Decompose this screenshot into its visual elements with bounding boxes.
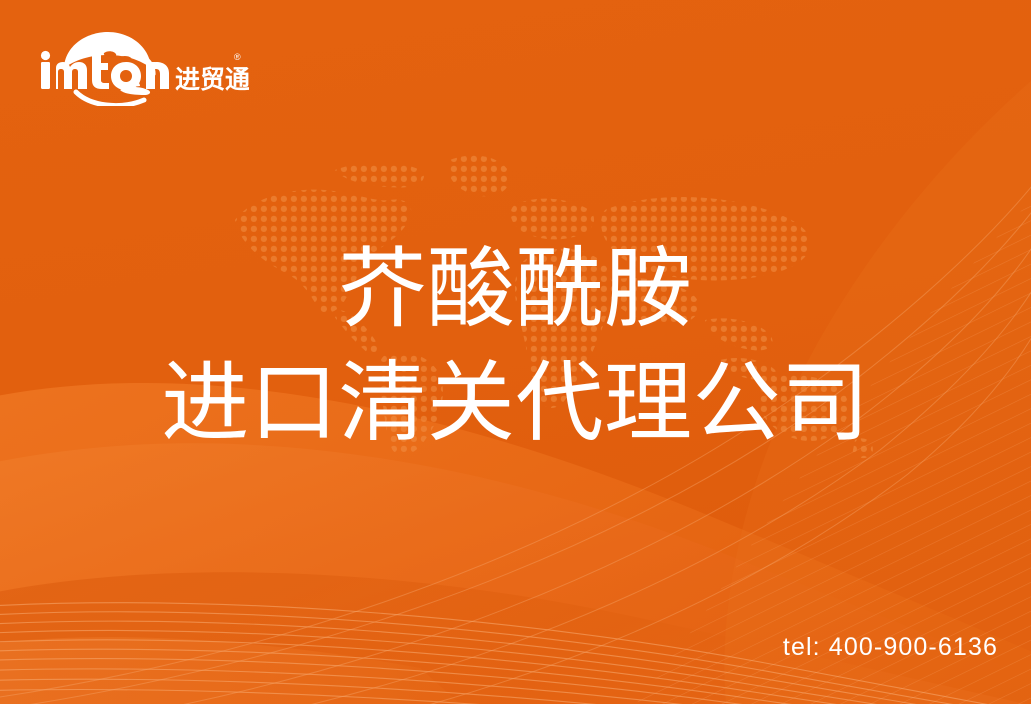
promo-banner: 进贸通 ® 芥酸酰胺 进口清关代理公司 tel: 400-900-6136 bbox=[0, 0, 1031, 704]
registered-mark-icon: ® bbox=[234, 52, 241, 62]
swoosh-dolphin-icon bbox=[76, 82, 150, 105]
logo-chinese-name: 进贸通 bbox=[175, 66, 249, 94]
headline-line-1: 芥酸酰胺 bbox=[0, 232, 1031, 346]
brand-logo[interactable]: 进贸通 ® bbox=[34, 28, 249, 106]
headline-block: 芥酸酰胺 进口清关代理公司 bbox=[0, 232, 1031, 461]
headline-line-2: 进口清关代理公司 bbox=[0, 346, 1031, 460]
contact-phone[interactable]: tel: 400-900-6136 bbox=[783, 633, 998, 662]
logo-wordmark bbox=[41, 51, 169, 90]
